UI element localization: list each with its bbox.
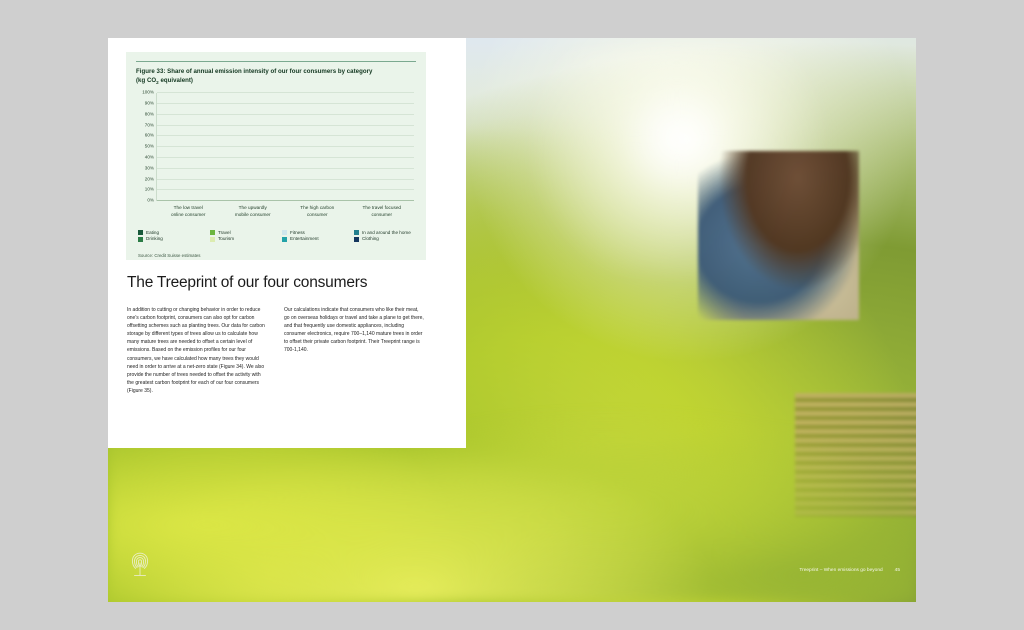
x-axis-label-line: consumer	[285, 211, 350, 218]
legend-label: Travel	[218, 230, 234, 236]
legend-swatch	[210, 237, 215, 242]
bar-slot	[221, 93, 285, 201]
figure-33-card: Figure 33: Share of annual emission inte…	[126, 52, 426, 260]
page-title: The Treeprint of our four consumers	[127, 274, 367, 292]
y-axis-tick: 0%	[147, 198, 154, 203]
legend-swatch	[210, 230, 215, 235]
legend-item[interactable]: EatingDrinking	[138, 230, 200, 242]
legend-swatch	[138, 237, 143, 242]
legend-label-group: In and around the homeClothing	[362, 230, 411, 242]
y-axis-tick: 60%	[145, 133, 154, 138]
page-number: 45	[895, 568, 900, 573]
x-axis-label: The low travelonline consumer	[156, 204, 221, 218]
legend-swatch	[138, 230, 143, 235]
chart-title: Figure 33: Share of annual emission inte…	[136, 68, 416, 87]
y-axis-tick: 40%	[145, 154, 154, 159]
legend-label: Tourism	[218, 236, 234, 242]
legend-item[interactable]: TravelTourism	[210, 230, 272, 242]
chart-legend: EatingDrinkingTravelTourismFitnessEntert…	[138, 230, 416, 242]
x-axis-label: The upwardlymobile consumer	[221, 204, 286, 218]
bar-slot	[350, 93, 414, 201]
legend-swatch-group	[210, 230, 215, 242]
legend-label: Eating	[146, 230, 163, 236]
legend-label: Clothing	[362, 236, 411, 242]
paragraph-left: In addition to cutting or changing behav…	[127, 306, 268, 395]
footer-running-title: Treeprint – When emissions go beyond	[799, 568, 882, 573]
y-axis-tick: 10%	[145, 187, 154, 192]
chart-source: Source: Credit Suisse estimates	[138, 253, 416, 258]
legend-swatch-group	[138, 230, 143, 242]
legend-swatch	[354, 230, 359, 235]
x-axis-label-line: The upwardly	[221, 204, 286, 211]
article-panel: Figure 33: Share of annual emission inte…	[108, 38, 466, 448]
person-in-vineyard	[698, 151, 860, 320]
legend-label: Fitness	[290, 230, 319, 236]
y-axis-tick: 70%	[145, 122, 154, 127]
y-axis-tick: 80%	[145, 111, 154, 116]
bar-slot	[286, 93, 350, 201]
report-page-spread: Figure 33: Share of annual emission inte…	[108, 38, 916, 602]
legend-swatch-group	[354, 230, 359, 242]
body-columns: In addition to cutting or changing behav…	[127, 306, 425, 395]
y-axis-tick: 100%	[142, 90, 154, 95]
chart-plot-area: 0%10%20%30%40%50%60%70%80%90%100%	[136, 93, 416, 201]
x-axis-label-line: mobile consumer	[221, 211, 286, 218]
legend-label: Drinking	[146, 236, 163, 242]
y-axis-tick: 50%	[145, 144, 154, 149]
legend-item[interactable]: In and around the homeClothing	[354, 230, 416, 242]
y-axis-tick: 30%	[145, 165, 154, 170]
chart-title-line1: Figure 33: Share of annual emission inte…	[136, 68, 372, 75]
x-axis-label-line: consumer	[350, 211, 415, 218]
plot-canvas: 0%10%20%30%40%50%60%70%80%90%100%	[156, 93, 414, 201]
y-axis-tick: 20%	[145, 176, 154, 181]
page-footer: Treeprint – When emissions go beyond 45	[799, 568, 900, 573]
legend-label-group: EatingDrinking	[146, 230, 163, 242]
x-axis-label-line: online consumer	[156, 211, 221, 218]
x-axis-label-line: The high carbon	[285, 204, 350, 211]
x-axis-label-line: The travel focused	[350, 204, 415, 211]
fingerprint-tree-logo	[128, 550, 152, 580]
body-column-right: Our calculations indicate that consumers…	[284, 306, 425, 395]
x-axis-label: The high carbonconsumer	[285, 204, 350, 218]
chart-top-rule	[136, 61, 416, 62]
legend-swatch-group	[282, 230, 287, 242]
legend-label-group: FitnessEntertainment	[290, 230, 319, 242]
legend-swatch	[354, 237, 359, 242]
body-column-left: In addition to cutting or changing behav…	[127, 306, 268, 395]
legend-label: Entertainment	[290, 236, 319, 242]
legend-swatch	[282, 237, 287, 242]
y-axis-tick: 90%	[145, 100, 154, 105]
legend-label: In and around the home	[362, 230, 411, 236]
chart-title-line2: (kg CO2 equivalent)	[136, 77, 416, 87]
legend-label-group: TravelTourism	[218, 230, 234, 242]
x-axis-labels: The low travelonline consumerThe upwardl…	[156, 204, 414, 218]
stacked-bars	[157, 93, 414, 201]
x-axis-label-line: The low travel	[156, 204, 221, 211]
x-axis-label: The travel focusedconsumer	[350, 204, 415, 218]
legend-item[interactable]: FitnessEntertainment	[282, 230, 344, 242]
legend-swatch	[282, 230, 287, 235]
paragraph-right: Our calculations indicate that consumers…	[284, 306, 425, 355]
bar-slot	[157, 93, 221, 201]
